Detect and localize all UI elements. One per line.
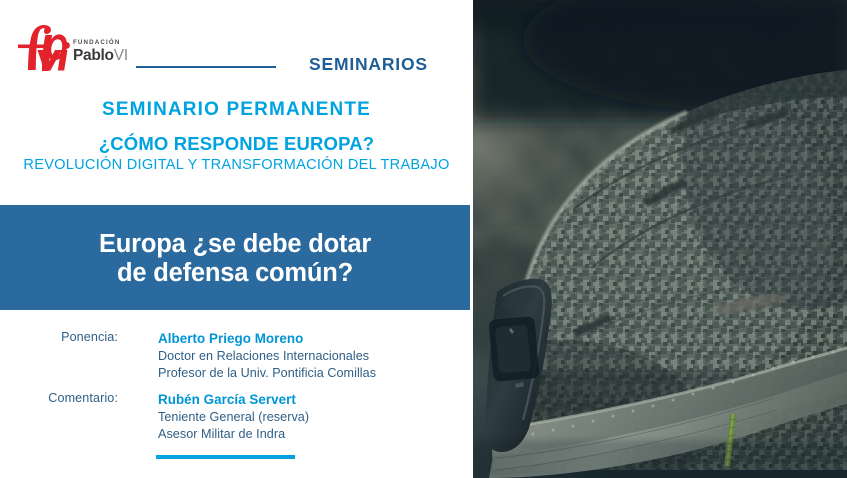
speaker-entry-ponencia: Ponencia: Alberto Priego Moreno Doctor e…	[0, 330, 473, 381]
speaker-role-label: Comentario:	[0, 391, 118, 405]
foundation-wordmark: FUNDACIÓN PabloVI	[73, 39, 137, 64]
speaker-detail-line: Teniente General (reserva)	[158, 409, 473, 426]
footer-divider	[156, 455, 295, 459]
seminar-poster: FUNDACIÓN PabloVI SEMINARIOS SEMINARIO P…	[0, 0, 847, 478]
speaker-entry-comentario: Comentario: Rubén García Servert Tenient…	[0, 391, 473, 442]
content-column: FUNDACIÓN PabloVI SEMINARIOS SEMINARIO P…	[0, 0, 473, 478]
speaker-detail-line: Doctor en Relaciones Internacionales	[158, 348, 473, 365]
speaker-detail-line: Asesor Militar de Indra	[158, 426, 473, 443]
main-title: Europa ¿se debe dotar de defensa común?	[0, 230, 470, 288]
helmet-photo	[473, 0, 847, 478]
speakers-section: Ponencia: Alberto Priego Moreno Doctor e…	[0, 330, 473, 442]
speaker-name: Alberto Priego Moreno	[158, 330, 473, 348]
fpvi-monogram-icon	[14, 24, 70, 72]
logo-fundacion-text: FUNDACIÓN	[73, 39, 137, 47]
speaker-name: Rubén García Servert	[158, 391, 473, 409]
question-heading: ¿CÓMO RESPONDE EUROPA?	[0, 133, 473, 155]
poster-header: FUNDACIÓN PabloVI SEMINARIOS	[0, 0, 473, 96]
speaker-info: Rubén García Servert Teniente General (r…	[158, 391, 473, 442]
main-title-line-1: Europa ¿se debe dotar	[99, 230, 371, 258]
eyebrow-heading: SEMINARIO PERMANENTE	[0, 98, 473, 122]
main-title-band: Europa ¿se debe dotar de defensa común?	[0, 205, 470, 310]
title-block: SEMINARIO PERMANENTE ¿CÓMO RESPONDE EURO…	[0, 98, 473, 175]
subtitle-heading: REVOLUCIÓN DIGITAL Y TRANSFORMACIÓN DEL …	[0, 156, 473, 175]
speaker-spacer	[0, 381, 473, 391]
speaker-detail-line: Profesor de la Univ. Pontificia Comillas	[158, 365, 473, 382]
logo-vi-text: VI	[114, 47, 128, 64]
foundation-logo: FUNDACIÓN PabloVI	[14, 24, 136, 74]
main-title-line-2: de defensa común?	[0, 259, 470, 288]
logo-pablovi-text: PabloVI	[73, 47, 137, 64]
header-divider	[136, 66, 276, 68]
speaker-role-label: Ponencia:	[0, 330, 118, 344]
logo-pablo-text: Pablo	[73, 47, 114, 64]
speaker-info: Alberto Priego Moreno Doctor en Relacion…	[158, 330, 473, 381]
section-label: SEMINARIOS	[309, 54, 428, 75]
